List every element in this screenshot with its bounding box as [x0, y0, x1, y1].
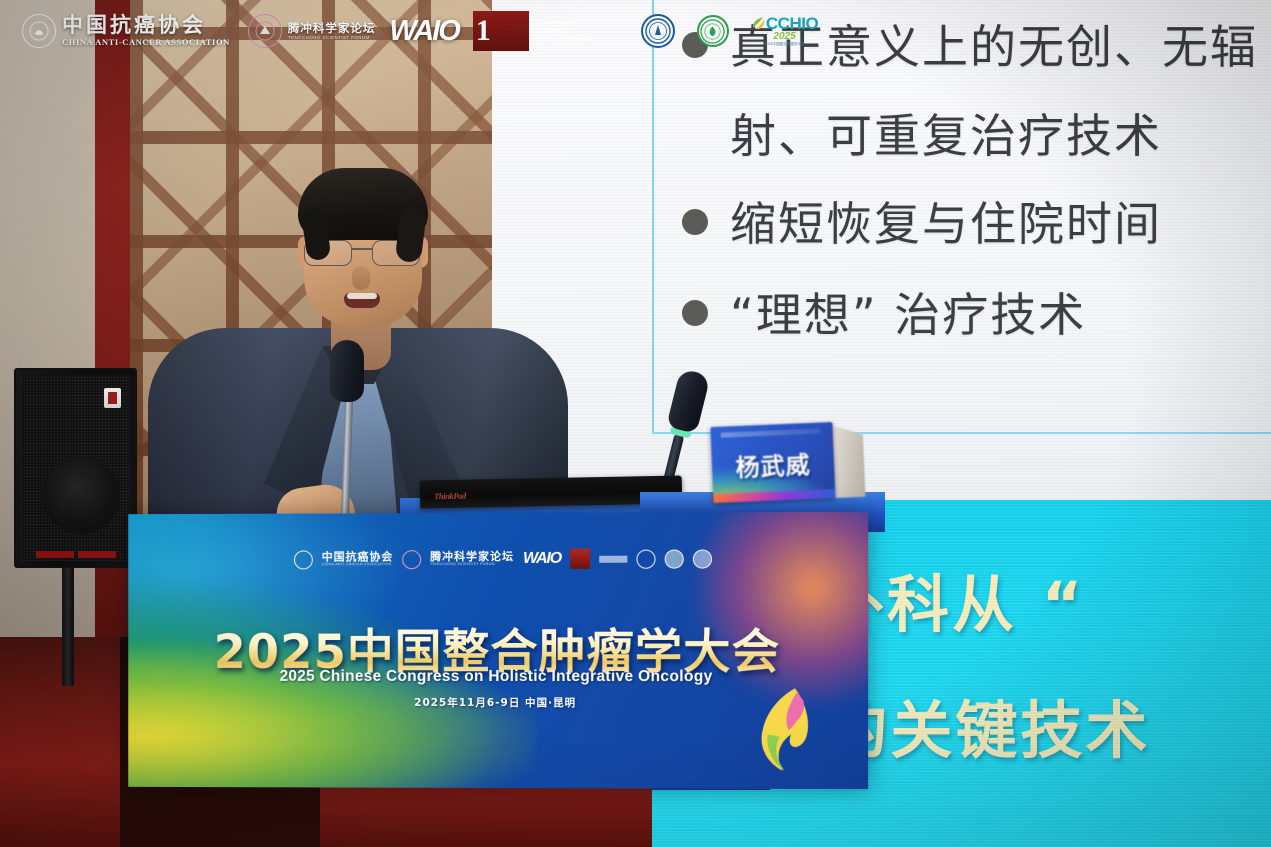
speaker-nameplate: 杨武威 [710, 421, 861, 505]
slide-bullet-text: 真正意义上的无创、无辐 [730, 14, 1258, 81]
hair [298, 168, 428, 240]
podium-logo-row: 中国抗癌协会 CHINA ANTI-CANCER ASSOCIATION 腾冲科… [294, 540, 714, 577]
screenshot-root: 真正意义上的无创、无辐 射、可重复治疗技术 缩短恢复与住院时间 “理想” 治疗技… [0, 0, 1271, 847]
speaker-brand-badge [104, 388, 121, 408]
podium-flame-icon [752, 684, 815, 789]
mic-capsule [330, 340, 364, 402]
podium-logo-redblock-icon [570, 549, 590, 569]
nose [352, 266, 370, 290]
podium-logo-caca-en: CHINA ANTI-CANCER ASSOCIATION [322, 563, 394, 567]
glasses-bridge [352, 248, 372, 250]
slide-bullet-text: 射、可重复治疗技术 [730, 103, 1162, 170]
handheld-microphone [330, 340, 364, 430]
podium-banner: 中国抗癌协会 CHINA ANTI-CANCER ASSOCIATION 腾冲科… [128, 512, 868, 789]
podium-logo-univ-text [599, 555, 627, 562]
slide-bullet-text: 缩短恢复与住院时间 [730, 191, 1162, 258]
tsf-seal-icon [402, 550, 421, 569]
podium-logo-tsf-en: TENGCHONG SCIENTIST FORUM [430, 563, 514, 567]
podium-logo-seal-blue [636, 549, 655, 568]
pa-loudspeaker [14, 368, 137, 568]
speaker-label-strip [36, 551, 116, 558]
slide-bullet-1: 真正意义上的无创、无辐 [660, 14, 1271, 81]
podium-logo-seal-green [665, 549, 684, 568]
slide-bullet-text: “理想” 治疗技术 [730, 282, 1086, 349]
slide-border-left [652, 0, 654, 434]
slide-bullet-3: “理想” 治疗技术 [660, 282, 1271, 349]
speaker-woofer [42, 456, 120, 534]
speaker-name: 杨武威 [711, 444, 834, 484]
bullet-dot-icon [682, 32, 708, 58]
nameplate-top-line [721, 429, 821, 438]
slide-bullet-1-cont: 射、可重复治疗技术 [660, 103, 1271, 170]
mouth [344, 293, 380, 308]
speaker-stand [62, 566, 74, 686]
thinkpad-logo: ThinkPad [434, 491, 466, 502]
caca-seal-icon [294, 550, 313, 569]
bullet-dot-icon [682, 300, 708, 326]
slide-bullet-list: 真正意义上的无创、无辐 射、可重复治疗技术 缩短恢复与住院时间 “理想” 治疗技… [660, 0, 1271, 434]
podium-logo-seal-cchio [693, 549, 712, 568]
podium-logo-waio: WAIO [523, 550, 561, 568]
nameplate-front: 杨武威 [710, 422, 835, 503]
slide-bullet-2: 缩短恢复与住院时间 [660, 191, 1271, 258]
bullet-dot-icon [682, 209, 708, 235]
